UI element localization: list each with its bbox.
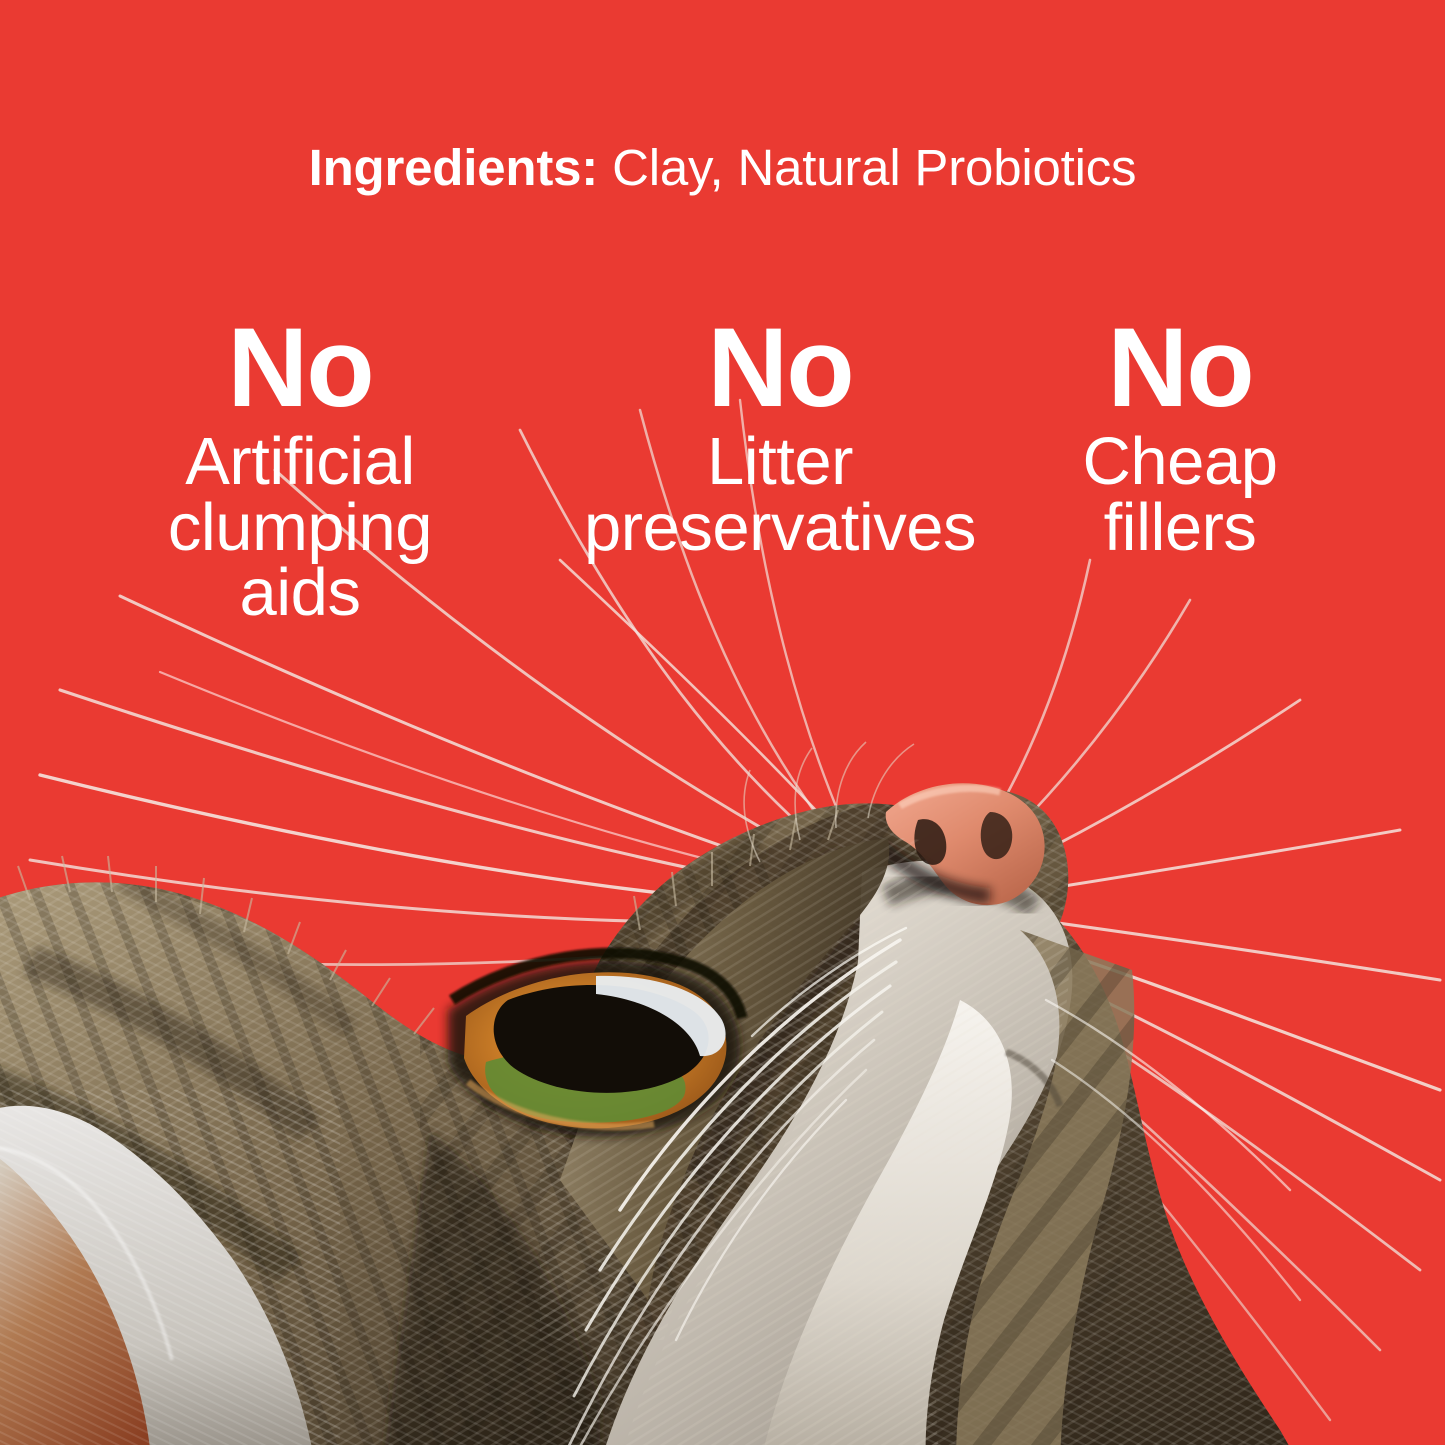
claim-headline: No: [120, 316, 480, 419]
claim-cheap-fillers: No Cheap fillers: [1040, 316, 1320, 560]
claim-description: Cheap fillers: [1040, 429, 1320, 560]
claim-headline: No: [545, 316, 1015, 419]
claim-headline: No: [1040, 316, 1320, 419]
ingredients-label: Ingredients:: [309, 139, 598, 196]
claim-litter-preservatives: No Litter preservatives: [545, 316, 1015, 560]
claims-row: No Artificial clumping aids No Litter pr…: [0, 316, 1445, 646]
claim-description: Litter preservatives: [545, 429, 1015, 560]
ingredients-value: Clay, Natural Probiotics: [612, 139, 1136, 196]
copy-layer: Ingredients: Clay, Natural Probiotics No…: [0, 0, 1445, 1445]
claim-description: Artificial clumping aids: [120, 429, 480, 626]
ingredients-line: Ingredients: Clay, Natural Probiotics: [0, 141, 1445, 195]
product-feature-panel: Ingredients: Clay, Natural Probiotics No…: [0, 0, 1445, 1445]
claim-artificial-clumping-aids: No Artificial clumping aids: [120, 316, 480, 626]
